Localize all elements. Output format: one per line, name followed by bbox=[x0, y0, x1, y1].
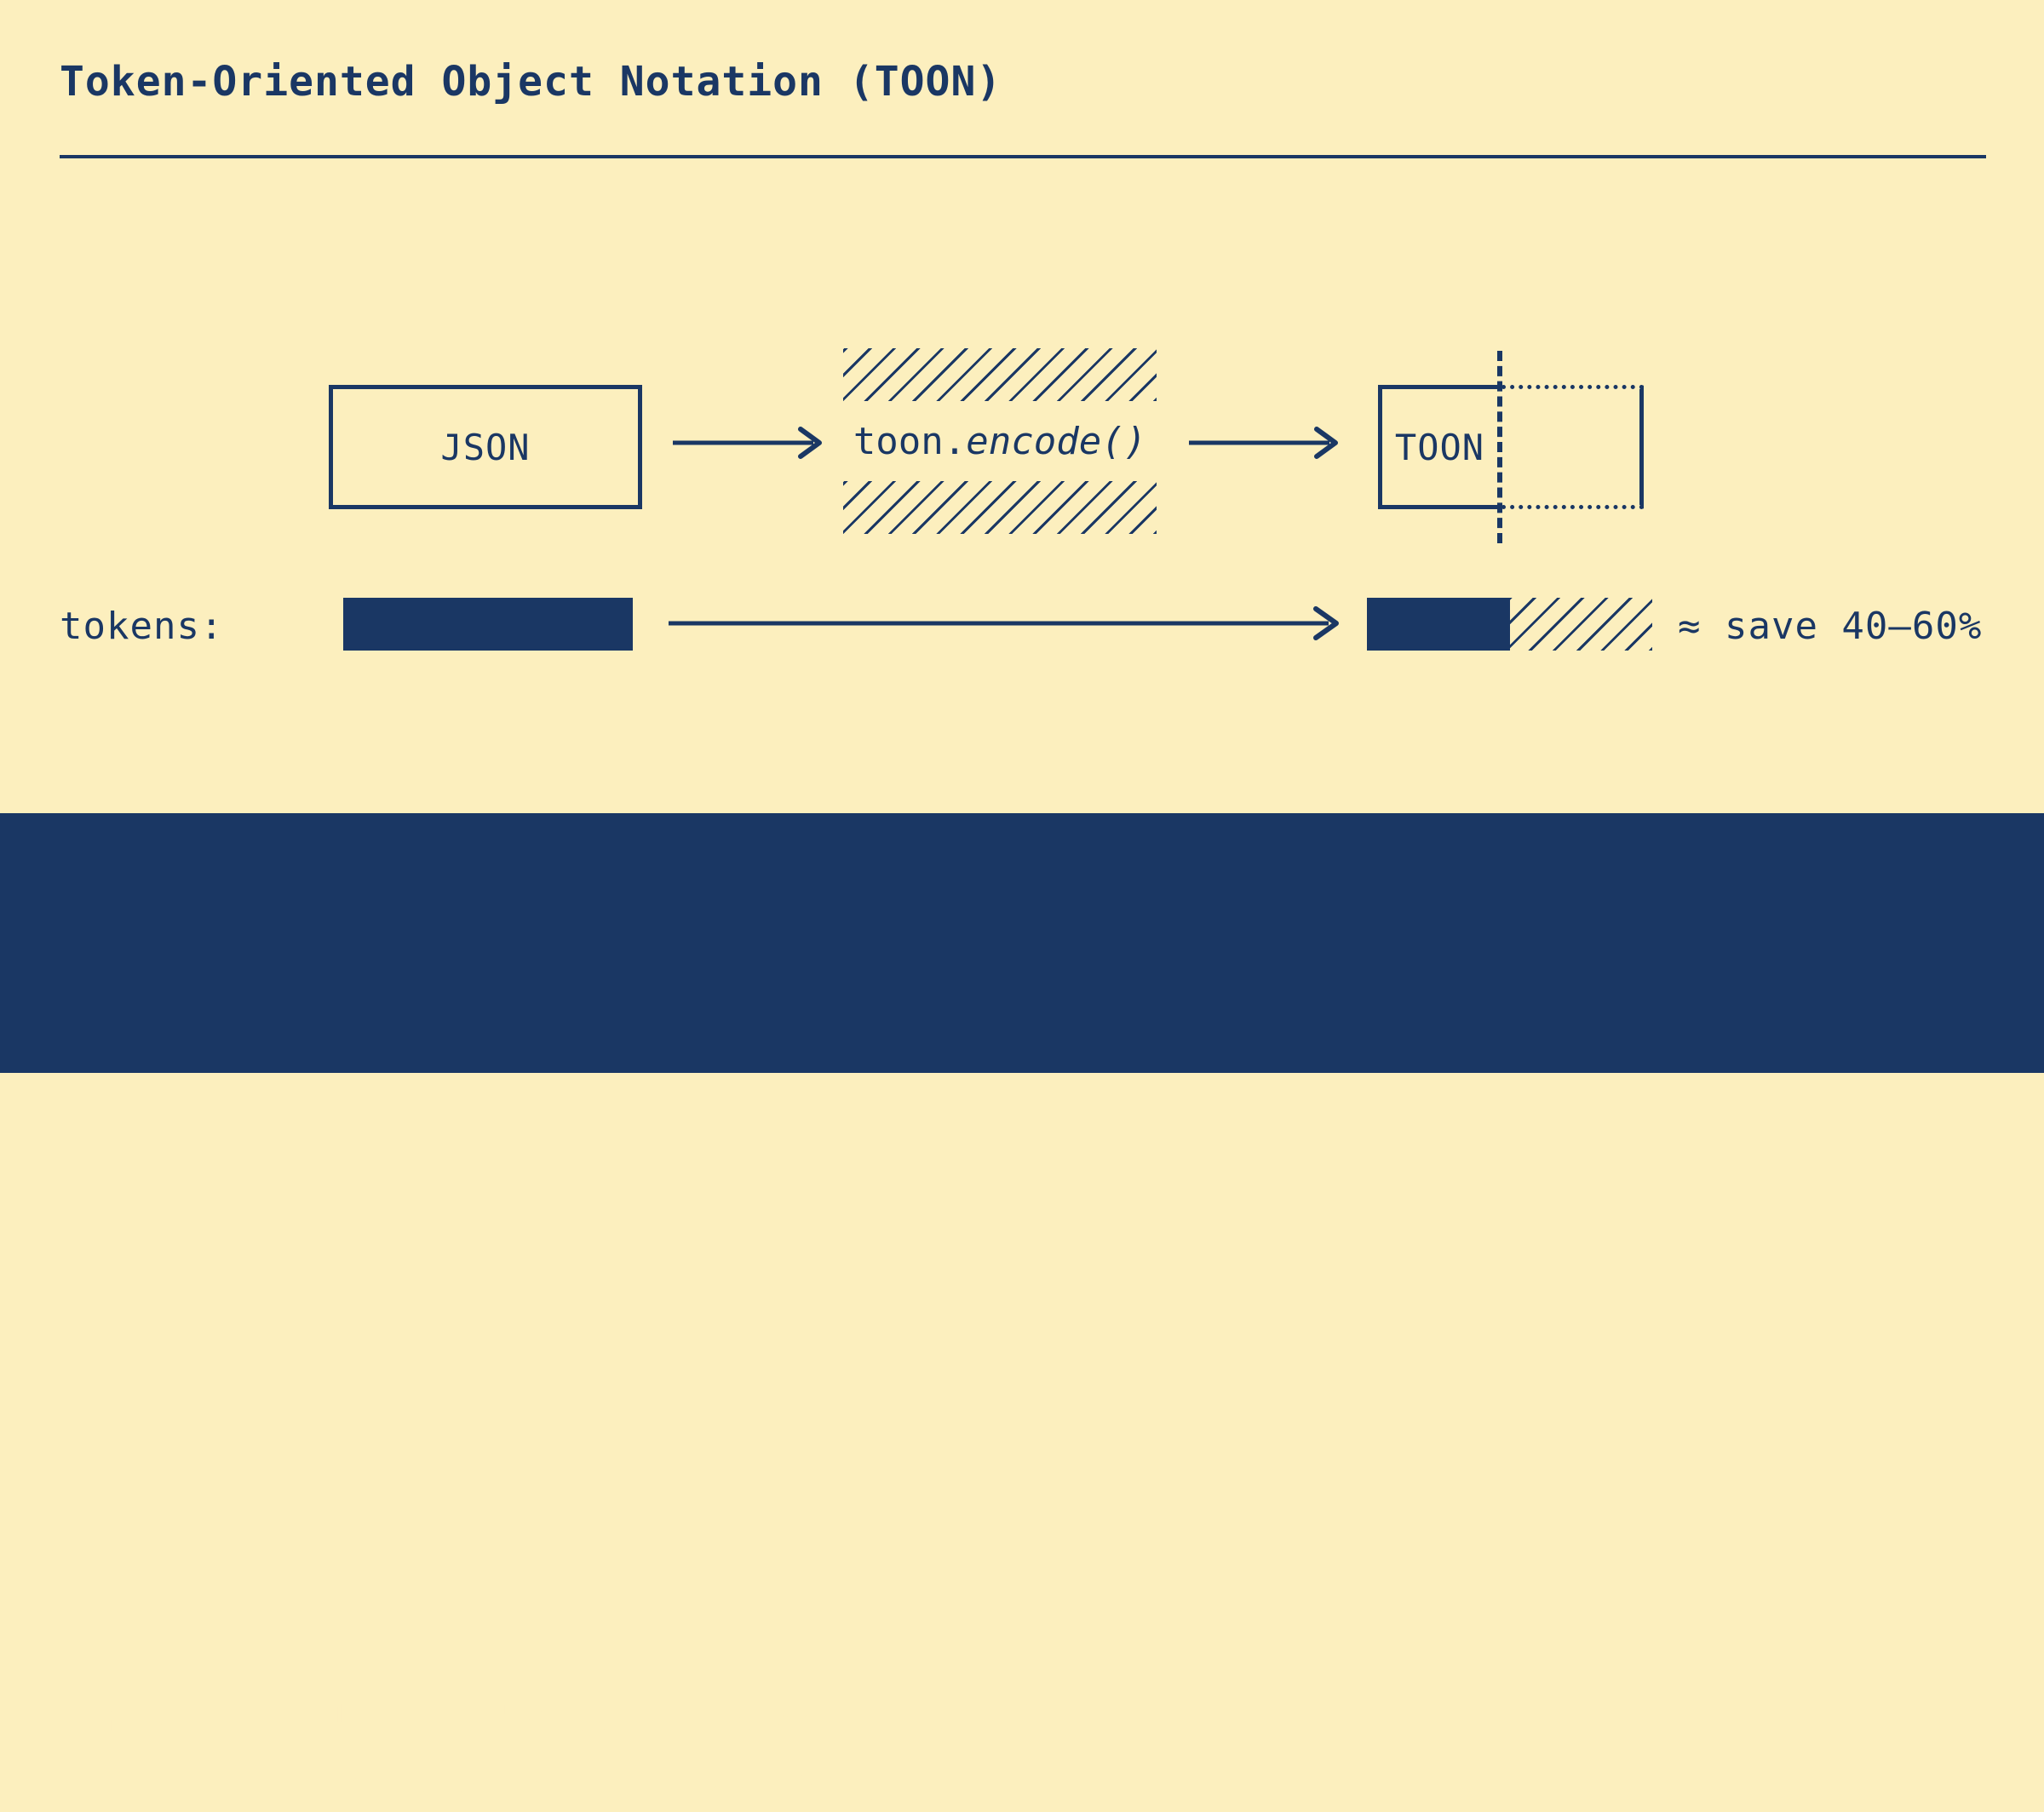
toon-divider-line bbox=[1497, 351, 1502, 543]
savings-annotation: ≈ save 40–60% bbox=[1678, 605, 1982, 648]
encode-label-plain: toon. bbox=[853, 420, 966, 463]
sample-line-json: JSON→{ "tags": ["jazz", "chill", "lofi"]… bbox=[324, 1697, 1289, 1740]
json-node-box: JSON bbox=[329, 385, 642, 509]
sample-json-arrow-icon: → bbox=[414, 1697, 454, 1740]
sample-panel: sample: JSON→{ "tags": ["jazz", "chill",… bbox=[0, 813, 2044, 1073]
encode-hatch-bottom bbox=[843, 481, 1157, 534]
sample-toon-lang: TOON bbox=[324, 1769, 414, 1812]
tokens-row-label: tokens: bbox=[60, 605, 223, 648]
sample-label: sample: bbox=[60, 1697, 223, 1740]
encode-label-italic: encode() bbox=[966, 420, 1146, 463]
arrow-encode-to-toon bbox=[1189, 426, 1359, 460]
sample-json-code: { "tags": ["jazz", "chill", "lofi"] } bbox=[453, 1697, 1288, 1740]
arrow-tokens-comparison bbox=[669, 606, 1358, 640]
toon-savings-box bbox=[1501, 385, 1644, 509]
tokens-bar-toon-used bbox=[1367, 598, 1510, 651]
arrow-json-to-encode bbox=[673, 426, 843, 460]
toon-node-group: TOON bbox=[1378, 385, 1644, 509]
tokens-bar-json bbox=[343, 598, 633, 651]
encode-hatch-top bbox=[843, 348, 1157, 401]
sample-json-lang: JSON bbox=[324, 1697, 414, 1740]
tokens-bar-toon-saved bbox=[1510, 598, 1652, 651]
sample-toon-code: tags[3]: jazz,chill,lofi bbox=[453, 1769, 995, 1812]
json-node-label: JSON bbox=[333, 389, 638, 505]
toon-node-label: TOON bbox=[1378, 385, 1501, 509]
sample-toon-arrow-icon: → bbox=[414, 1769, 454, 1812]
sample-line-toon: TOON→tags[3]: jazz,chill,lofi bbox=[324, 1769, 995, 1812]
encode-node-label: toon.encode() bbox=[843, 401, 1157, 481]
flow-diagram: JSON toon.encode() TOON tokens: ≈ save 4… bbox=[0, 0, 2044, 813]
